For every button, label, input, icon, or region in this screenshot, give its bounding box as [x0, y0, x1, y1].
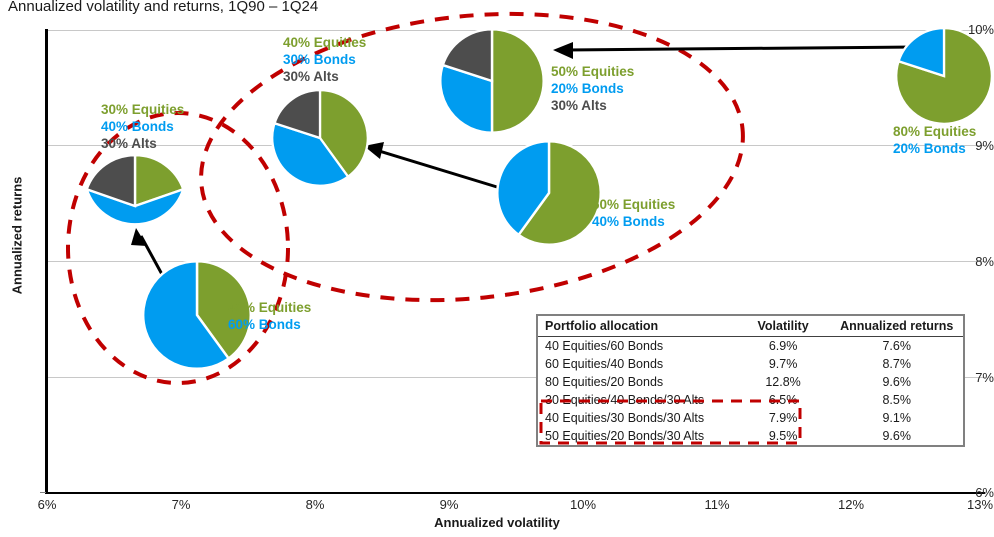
y-axis-title: Annualized returns [10, 136, 25, 336]
callout-40-60: 40% Equities 60% Bonds [228, 299, 311, 333]
table-row: 30 Equities/40 Bonds/30 Alts 6.5% 8.5% [538, 391, 963, 409]
pie-30-equities-40-bonds-30-alts [81, 152, 189, 260]
x-tick-9pct: 9% [440, 497, 459, 512]
callout-40-30-30-equities: 40% Equities [283, 34, 366, 51]
table-cell-allocation: 40 Equities/60 Bonds [538, 337, 736, 356]
x-tick-6pct: 6% [38, 497, 57, 512]
table-cell-returns: 9.1% [827, 409, 963, 427]
table-cell-volatility: 6.5% [736, 391, 828, 409]
x-axis-title: Annualized volatility [0, 515, 994, 530]
callout-50-20-30-alts: 30% Alts [551, 97, 634, 114]
x-tick-12pct: 12% [838, 497, 864, 512]
pie-60-equities-40-bonds [494, 138, 604, 248]
table-row: 60 Equities/40 Bonds 9.7% 8.7% [538, 355, 963, 373]
pie-40-equities-30-bonds-30-alts [268, 86, 372, 190]
y-tick-mark-6pct [40, 492, 46, 493]
y-axis-line [45, 29, 48, 494]
table-cell-allocation: 50 Equities/20 Bonds/30 Alts [538, 427, 736, 445]
x-tick-13pct: 13% [967, 497, 993, 512]
table-cell-volatility: 7.9% [736, 409, 828, 427]
table-header-returns: Annualized returns [827, 316, 963, 337]
table-cell-returns: 9.6% [827, 373, 963, 391]
table-cell-allocation: 30 Equities/40 Bonds/30 Alts [538, 391, 736, 409]
x-tick-7pct: 7% [172, 497, 191, 512]
portfolio-allocation-table: Portfolio allocation Volatility Annualiz… [536, 314, 965, 447]
callout-80-20-equities: 80% Equities [893, 123, 976, 140]
chart-root: Annualized volatility and returns, 1Q90 … [0, 0, 994, 537]
table-cell-allocation: 40 Equities/30 Bonds/30 Alts [538, 409, 736, 427]
table-cell-returns: 9.6% [827, 427, 963, 445]
callout-40-60-bonds: 60% Bonds [228, 316, 311, 333]
callout-30-40-30-alts: 30% Alts [101, 135, 184, 152]
x-tick-8pct: 8% [306, 497, 325, 512]
table-row: 40 Equities/30 Bonds/30 Alts 7.9% 9.1% [538, 409, 963, 427]
callout-80-20: 80% Equities 20% Bonds [893, 123, 976, 157]
arrow-80-20-to-50-20-30 [553, 42, 915, 59]
table-cell-returns: 8.5% [827, 391, 963, 409]
callout-40-30-30: 40% Equities 30% Bonds 30% Alts [283, 34, 366, 85]
table-row: 50 Equities/20 Bonds/30 Alts 9.5% 9.6% [538, 427, 963, 445]
table-cell-volatility: 9.7% [736, 355, 828, 373]
callout-40-60-equities: 40% Equities [228, 299, 311, 316]
table-row: 40 Equities/60 Bonds 6.9% 7.6% [538, 337, 963, 356]
table-cell-returns: 8.7% [827, 355, 963, 373]
callout-60-40-equities: 60% Equities [592, 196, 675, 213]
table-header-volatility: Volatility [736, 316, 828, 337]
pie-80-equities-20-bonds [892, 24, 994, 128]
callout-40-30-30-bonds: 30% Bonds [283, 51, 366, 68]
table-header-allocation: Portfolio allocation [538, 316, 736, 337]
table-cell-allocation: 60 Equities/40 Bonds [538, 355, 736, 373]
x-axis-line [45, 492, 985, 494]
callout-50-20-30-bonds: 20% Bonds [551, 80, 634, 97]
y-tick-8pct: 8% [956, 254, 994, 269]
callout-50-20-30: 50% Equities 20% Bonds 30% Alts [551, 63, 634, 114]
callout-30-40-30: 30% Equities 40% Bonds 30% Alts [101, 101, 184, 152]
callout-50-20-30-equities: 50% Equities [551, 63, 634, 80]
pie-50-equities-20-bonds-30-alts [437, 26, 547, 136]
callout-40-30-30-alts: 30% Alts [283, 68, 366, 85]
table-header-row: Portfolio allocation Volatility Annualiz… [538, 316, 963, 337]
table-cell-volatility: 9.5% [736, 427, 828, 445]
x-tick-10pct: 10% [570, 497, 596, 512]
callout-30-40-30-bonds: 40% Bonds [101, 118, 184, 135]
table-cell-volatility: 12.8% [736, 373, 828, 391]
table-cell-returns: 7.6% [827, 337, 963, 356]
chart-title: Annualized volatility and returns, 1Q90 … [8, 0, 318, 15]
arrow-60-40-to-40-30-30 [364, 142, 497, 187]
callout-60-40: 60% Equities 40% Bonds [592, 196, 675, 230]
callout-30-40-30-equities: 30% Equities [101, 101, 184, 118]
table-cell-allocation: 80 Equities/20 Bonds [538, 373, 736, 391]
table-row: 80 Equities/20 Bonds 12.8% 9.6% [538, 373, 963, 391]
table-cell-volatility: 6.9% [736, 337, 828, 356]
callout-60-40-bonds: 40% Bonds [592, 213, 675, 230]
x-tick-11pct: 11% [704, 497, 729, 512]
callout-80-20-bonds: 20% Bonds [893, 140, 976, 157]
